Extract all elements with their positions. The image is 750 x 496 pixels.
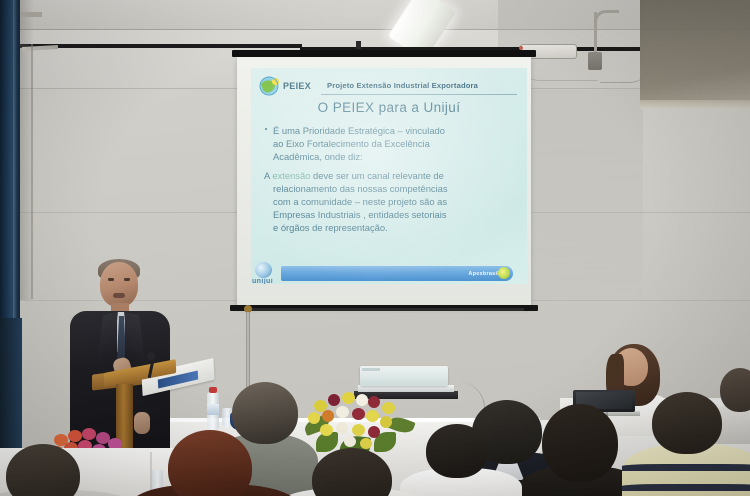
- flower: [322, 410, 334, 422]
- unijui-logo-text: unijui: [252, 278, 273, 284]
- peiex-globe-logo: [259, 76, 281, 96]
- slide-bullet: É uma Prioridade Estratégica – vinculado…: [264, 124, 516, 164]
- audience-member: [528, 404, 630, 496]
- bullet-dot-icon: [265, 128, 267, 130]
- person-head: [652, 392, 722, 454]
- flower: [352, 424, 365, 436]
- shirt-stripe: [622, 464, 750, 471]
- paragraph-rest: deve ser um canal relevante de: [310, 170, 443, 181]
- footer-bar: Apexbrasil: [281, 266, 513, 281]
- ceiling-beam: [640, 0, 750, 105]
- projected-slide: PEIEX Projeto Extensão Industrial Export…: [251, 68, 527, 284]
- wall-pipe: [31, 44, 33, 299]
- laptop-base: [358, 385, 454, 392]
- paragraph-line: e órgãos de representação.: [264, 221, 516, 234]
- person-head: [542, 404, 618, 482]
- flower: [344, 436, 356, 447]
- conduit-riser-right: [594, 12, 597, 56]
- audience-member: [632, 392, 750, 496]
- beam-underside: [640, 100, 750, 109]
- screen-surface: PEIEX Projeto Extensão Industrial Export…: [237, 57, 531, 307]
- presenter-head: [100, 262, 138, 307]
- audience-member: [0, 444, 122, 496]
- flower: [368, 426, 380, 438]
- paragraph-line: relacionamento das nossas competências: [264, 182, 516, 195]
- flower: [356, 394, 368, 406]
- flower: [366, 410, 379, 422]
- microphone-head-icon: [147, 352, 155, 360]
- flower: [82, 428, 96, 440]
- screen-bottom-weight: [246, 308, 524, 311]
- flower: [380, 416, 392, 428]
- presentation-photo-scene: PEIEX Projeto Extensão Industrial Export…: [0, 0, 750, 496]
- apexbrasil-logo-text: Apexbrasil: [468, 271, 499, 277]
- structural-column: [0, 0, 20, 330]
- person-head: [426, 424, 488, 478]
- slide-paragraph: A extensão deve ser um canal relevante d…: [264, 169, 516, 235]
- projection-screen: PEIEX Projeto Extensão Industrial Export…: [232, 50, 536, 314]
- flower: [336, 422, 348, 434]
- paragraph-line: com a comunidade – neste projeto são as: [264, 195, 516, 208]
- flower: [382, 402, 395, 414]
- bullet-line: Acadêmica, onde diz:: [273, 151, 363, 162]
- flower: [328, 394, 340, 406]
- header-divider: [321, 94, 517, 95]
- paragraph-highlight: extensão: [272, 170, 310, 181]
- presenter-eye: [108, 278, 114, 281]
- flower: [336, 406, 349, 418]
- wall-ledge: [20, 12, 42, 17]
- presenter-eye: [124, 278, 130, 281]
- shirt-stripe: [622, 484, 750, 491]
- flower: [368, 396, 380, 408]
- column-highlight: [13, 0, 17, 330]
- peiex-brand-text: PEIEX: [283, 81, 311, 91]
- slide-header: PEIEX Projeto Extensão Industrial Export…: [259, 74, 517, 100]
- audience-member: [410, 424, 506, 496]
- flower: [320, 424, 333, 436]
- person-head: [6, 444, 80, 496]
- slide-title: O PEIEX para a Unijuí: [251, 100, 527, 115]
- flower: [342, 392, 355, 404]
- audience-member: [150, 430, 278, 496]
- laptop-hinge: [362, 368, 380, 371]
- conduit-bracket: [356, 41, 361, 49]
- bottle-cap: [209, 387, 217, 393]
- slide-footer: Apexbrasil unijui: [251, 262, 527, 284]
- conduit-bend-right: [594, 10, 619, 29]
- bullet-line: ao Eixo Fortalecimento da Excelência: [273, 138, 430, 149]
- screen-top-bar: [232, 50, 536, 57]
- slide-header-subtitle: Projeto Extensão Industrial Exportadora: [327, 81, 478, 90]
- flower: [352, 408, 365, 420]
- bullet-line: É uma Prioridade Estratégica – vinculado: [273, 125, 445, 136]
- slide-body: É uma Prioridade Estratégica – vinculado…: [264, 124, 516, 235]
- apexbrasil-logo-mark: [498, 267, 510, 279]
- audience-member: [292, 448, 412, 496]
- person-head: [312, 448, 392, 496]
- presenter-mouth: [113, 293, 125, 298]
- paragraph-line: Empresas Industriais , entidades setoria…: [264, 208, 516, 221]
- person-head: [168, 430, 252, 496]
- unijui-logo-mark: [255, 262, 272, 278]
